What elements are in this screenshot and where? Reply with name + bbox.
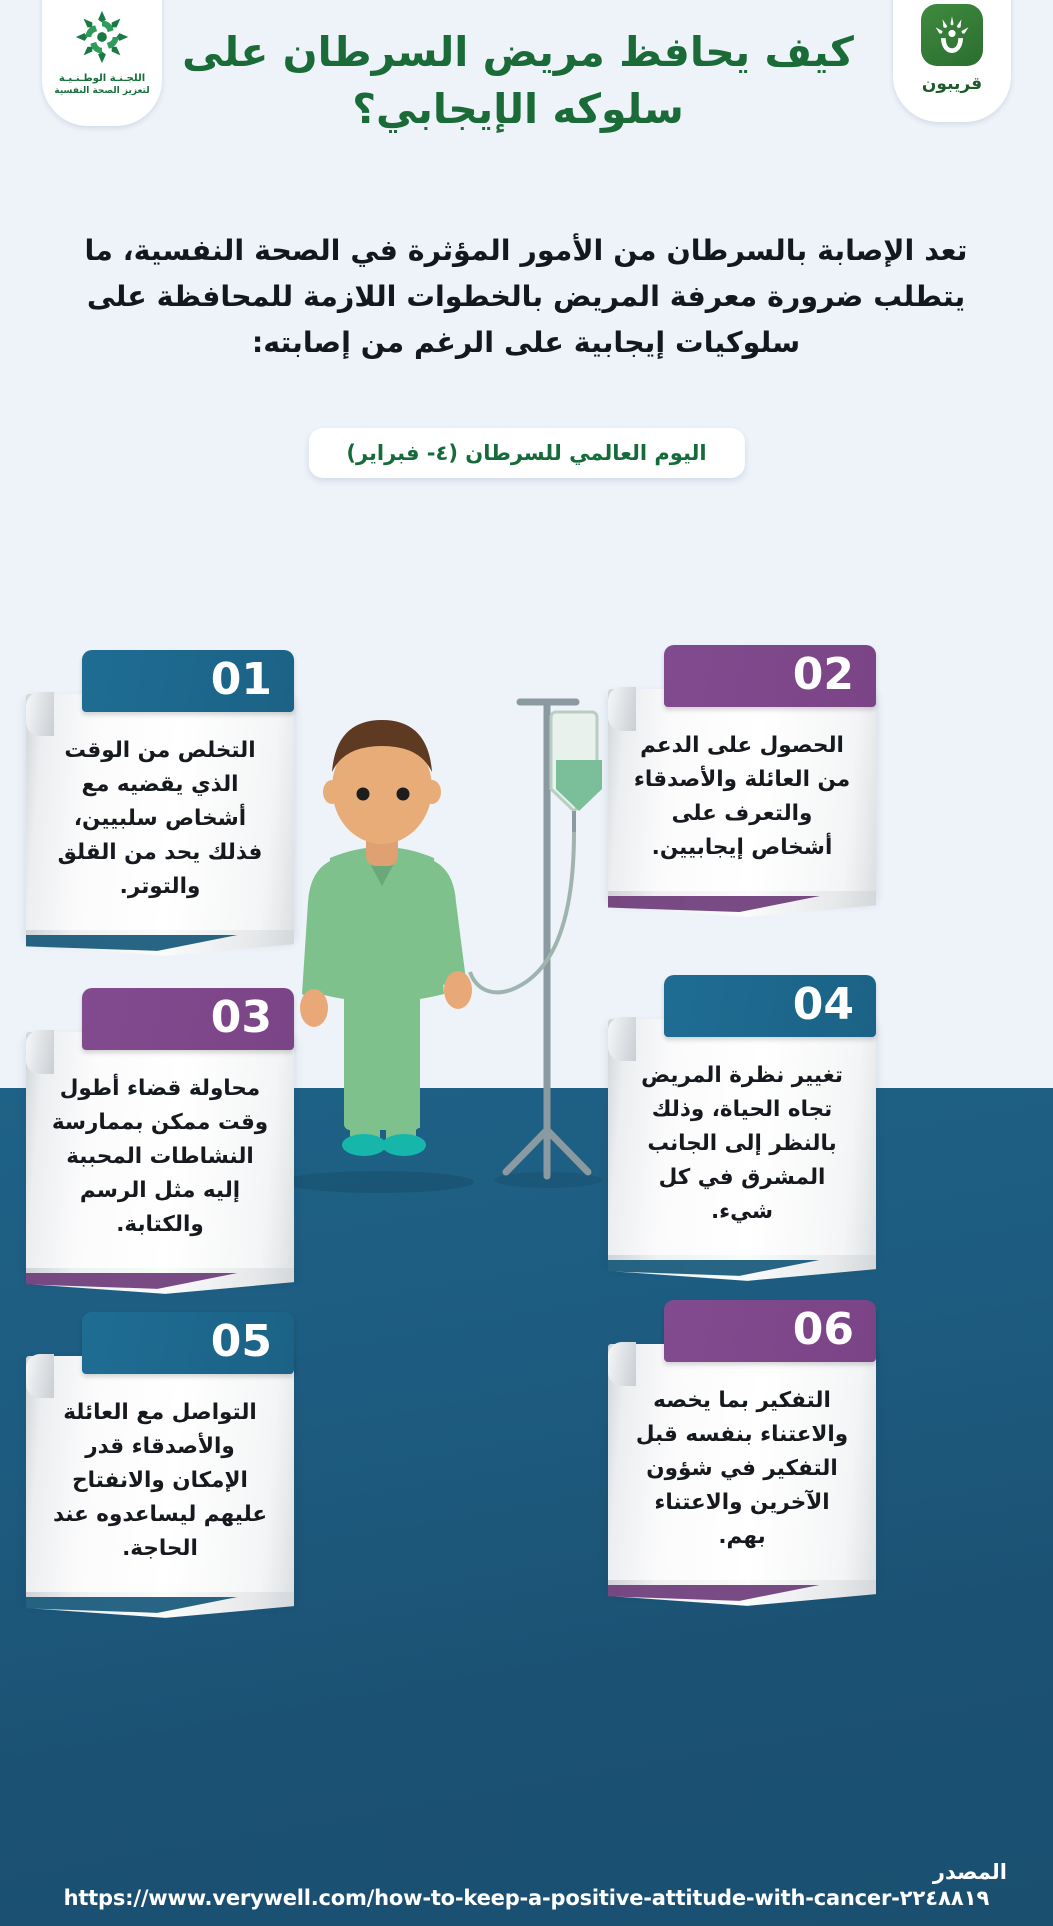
tip-card-05-text: التواصل مع العائلة والأصدقاء قدر الإمكان… [48,1396,272,1566]
page-title: كيف يحافظ مريض السرطان على سلوكه الإيجاب… [168,24,868,137]
tip-card-02[interactable]: 02 الحصول على الدعم من العائلة والأصدقاء… [608,645,876,899]
tip-card-03-text: محاولة قضاء أطول وقت ممكن بممارسة النشاط… [48,1072,272,1242]
intro-paragraph: تعد الإصابة بالسرطان من الأمور المؤثرة ف… [56,228,996,366]
tip-card-02-text: الحصول على الدعم من العائلة والأصدقاء وا… [630,729,854,865]
tip-card-01-text: التخلص من الوقت الذي يقضيه مع أشخاص سلبي… [48,734,272,904]
tip-card-04[interactable]: 04 تغيير نظرة المريض تجاه الحياة، وذلك ب… [608,975,876,1263]
tip-card-01-sheet: التخلص من الوقت الذي يقضيه مع أشخاص سلبي… [26,694,294,938]
tip-card-06-text: التفكير بما يخصه والاعتناء بنفسه قبل الت… [630,1384,854,1554]
qareeboon-logo: قريبون [893,0,1011,122]
world-cancer-day-badge: اليوم العالمي للسرطان (٤- فبراير) [308,428,744,478]
source-label: المصدر [0,1860,1053,1884]
intro-line-1: تعد الإصابة بالسرطان من الأمور المؤثرة ف… [56,228,996,274]
tip-card-06-number: 06 [664,1300,876,1362]
qareeboon-emblem-icon [921,4,983,66]
tip-card-05-number: 05 [82,1312,294,1374]
qareeboon-logo-label: قريبون [922,74,982,94]
tip-card-03[interactable]: 03 محاولة قضاء أطول وقت ممكن بممارسة الن… [26,988,294,1276]
footer: المصدر https://www.verywell.com/how-to-k… [0,1860,1053,1910]
patient-with-iv-drip-illustration [258,660,638,1205]
tip-card-04-number: 04 [664,975,876,1037]
tip-card-05[interactable]: 05 التواصل مع العائلة والأصدقاء قدر الإم… [26,1312,294,1600]
tip-card-01[interactable]: 01 التخلص من الوقت الذي يقضيه مع أشخاص س… [26,650,294,938]
intro-line-2: يتطلب ضرورة معرفة المريض بالخطوات اللازم… [56,274,996,320]
tip-card-04-sheet: تغيير نظرة المريض تجاه الحياة، وذلك بالن… [608,1019,876,1263]
tip-card-05-sheet: التواصل مع العائلة والأصدقاء قدر الإمكان… [26,1356,294,1600]
tip-card-02-number: 02 [664,645,876,707]
tip-card-04-text: تغيير نظرة المريض تجاه الحياة، وذلك بالن… [630,1059,854,1229]
tip-card-02-sheet: الحصول على الدعم من العائلة والأصدقاء وا… [608,689,876,899]
ncmh-logo-line1: اللجـنـة الوطـنـيـة [59,73,145,86]
ncmh-emblem-icon [71,6,133,68]
infographic-page: اللجـنـة الوطـنـيـة لتعزيز الصحة النفسية… [0,0,1053,1926]
intro-line-3: سلوكيات إيجابية على الرغم من إصابته: [56,320,996,366]
tip-card-03-sheet: محاولة قضاء أطول وقت ممكن بممارسة النشاط… [26,1032,294,1276]
tip-card-01-number: 01 [82,650,294,712]
tip-card-06-sheet: التفكير بما يخصه والاعتناء بنفسه قبل الت… [608,1344,876,1588]
ncmh-logo-line2: لتعزيز الصحة النفسية [54,86,149,97]
source-url[interactable]: https://www.verywell.com/how-to-keep-a-p… [0,1886,1053,1910]
tip-card-06[interactable]: 06 التفكير بما يخصه والاعتناء بنفسه قبل … [608,1300,876,1588]
ncmh-logo: اللجـنـة الوطـنـيـة لتعزيز الصحة النفسية [42,0,162,126]
tip-card-03-number: 03 [82,988,294,1050]
